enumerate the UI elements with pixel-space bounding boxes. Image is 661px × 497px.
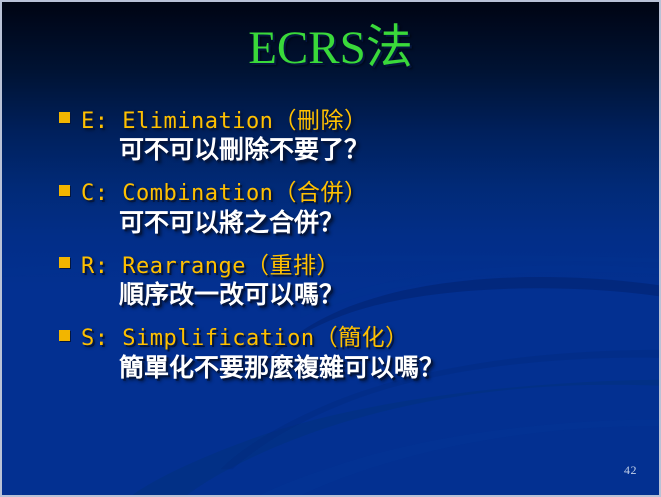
bullet-main-text: C: Combination（合併） bbox=[81, 173, 367, 207]
list-item: R: Rearrange（重排） 順序改一改可以嗎？ bbox=[2, 247, 661, 311]
page-number: 42 bbox=[624, 463, 637, 478]
bullet-cjk-text: （刪除） bbox=[273, 108, 367, 134]
slide-title: ECRS法 bbox=[2, 24, 659, 73]
list-item: E: Elimination（刪除） 可不可以刪除不要了？ bbox=[2, 102, 661, 166]
bullet-latin-text: E: Elimination bbox=[81, 109, 273, 134]
bullet-line: C: Combination（合併） bbox=[2, 175, 661, 206]
bullet-main-text: E: Elimination（刪除） bbox=[81, 101, 367, 135]
bullet-latin-text: R: Rearrange bbox=[81, 254, 246, 279]
bullet-cjk-text: （合併） bbox=[273, 180, 367, 206]
bullet-sub-text: 簡單化不要那麼複雜可以嗎？ bbox=[2, 353, 661, 384]
square-bullet-icon bbox=[59, 257, 70, 268]
bullet-sub-text: 順序改一改可以嗎？ bbox=[2, 280, 661, 311]
bullet-sub-text: 可不可以刪除不要了？ bbox=[2, 135, 661, 166]
square-bullet-icon bbox=[59, 112, 70, 123]
square-bullet-icon bbox=[59, 330, 70, 341]
bullet-latin-text: C: Combination bbox=[81, 181, 273, 206]
bullet-sub-text: 可不可以將之合併？ bbox=[2, 208, 661, 239]
list-item: C: Combination（合併） 可不可以將之合併？ bbox=[2, 175, 661, 239]
bullet-line: R: Rearrange（重排） bbox=[2, 247, 661, 278]
bullet-main-text: R: Rearrange（重排） bbox=[81, 246, 340, 280]
bullet-line: S: Simplification（簡化） bbox=[2, 320, 661, 351]
bullet-latin-text: S: Simplification bbox=[81, 326, 315, 351]
bullet-list: E: Elimination（刪除） 可不可以刪除不要了？ C: Combina… bbox=[2, 102, 661, 392]
square-bullet-icon bbox=[59, 185, 70, 196]
presentation-slide: ECRS法 E: Elimination（刪除） 可不可以刪除不要了？ C: C… bbox=[0, 0, 661, 497]
bullet-line: E: Elimination（刪除） bbox=[2, 102, 661, 133]
bullet-main-text: S: Simplification（簡化） bbox=[81, 318, 409, 352]
bullet-cjk-text: （簡化） bbox=[315, 325, 409, 351]
list-item: S: Simplification（簡化） 簡單化不要那麼複雜可以嗎？ bbox=[2, 320, 661, 384]
bullet-cjk-text: （重排） bbox=[246, 253, 340, 279]
